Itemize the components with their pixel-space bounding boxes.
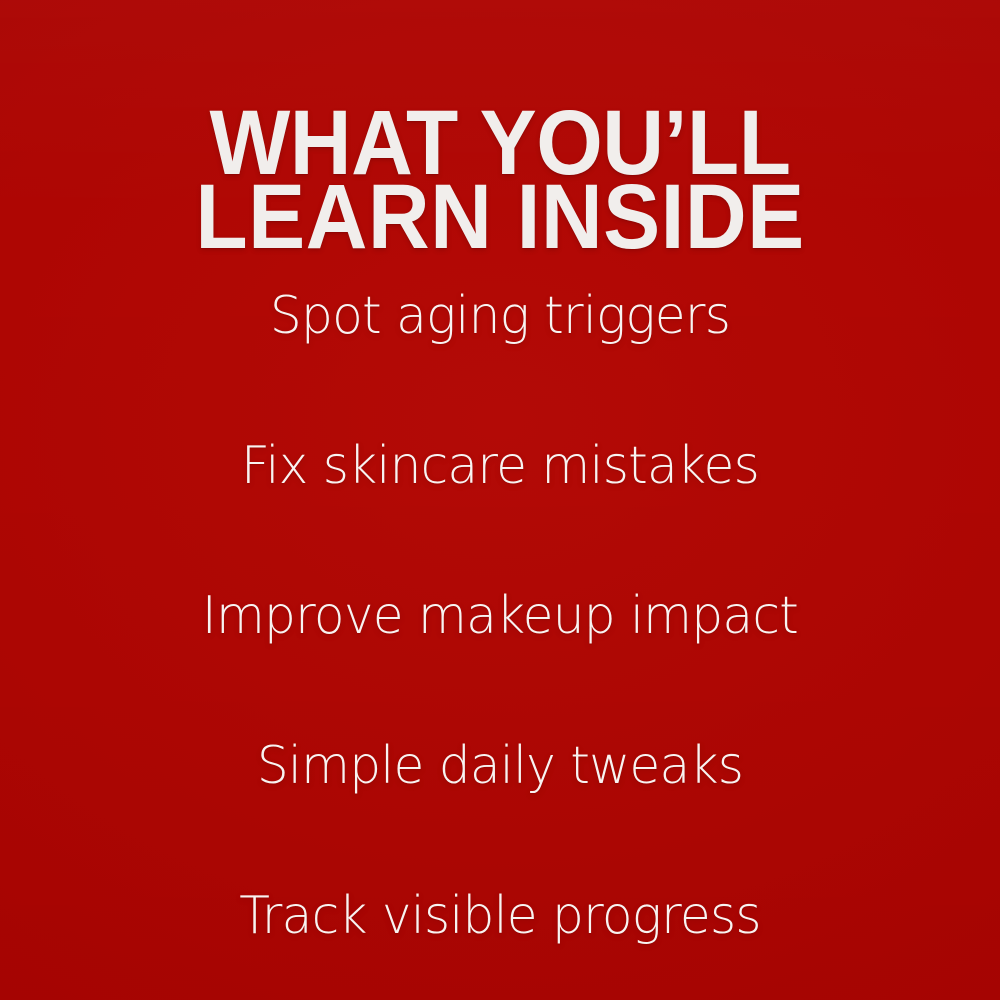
list-item: Simple daily tweaks — [18, 691, 983, 841]
list-item: Spot aging triggers — [18, 241, 983, 391]
learn-inside-list: Spot aging triggers Fix skincare mistake… — [0, 241, 1000, 991]
page-title: WHAT YOU’LL LEARN INSIDE — [35, 106, 965, 254]
list-item: Track visible progress — [18, 841, 983, 991]
promo-poster: WHAT YOU’LL LEARN INSIDE Spot aging trig… — [0, 0, 1000, 1000]
list-item: Fix skincare mistakes — [18, 391, 983, 541]
list-item: Improve makeup impact — [18, 541, 983, 691]
